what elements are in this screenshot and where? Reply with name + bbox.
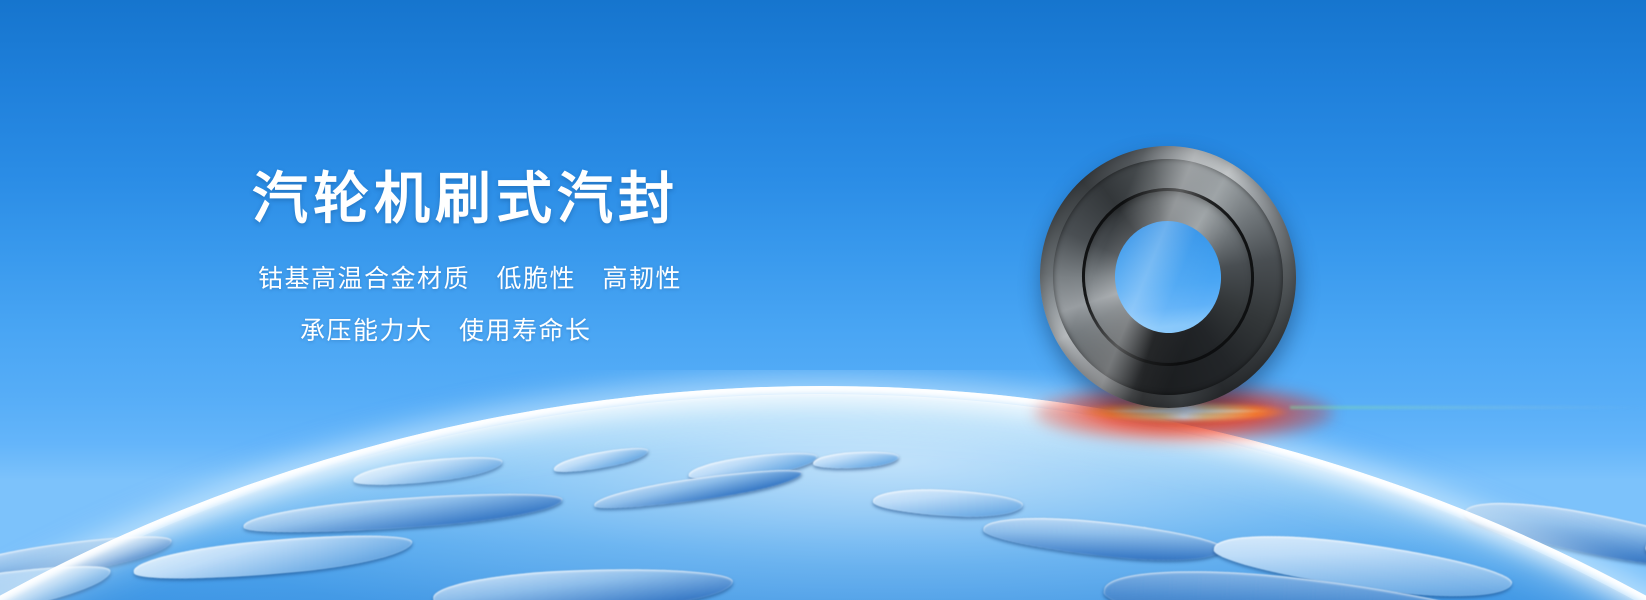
ring-inner-face (1041, 148, 1294, 407)
ring-bore-edge (1073, 179, 1263, 374)
banner-subtitle-1: 钴基高温合金材质 低脆性 高韧性 (258, 266, 892, 291)
banner-headline: 汽轮机刷式汽封 (252, 170, 892, 230)
ring-outer-rim (1027, 133, 1309, 420)
ring-hole (1109, 216, 1226, 338)
earth-horizon (0, 370, 1646, 600)
banner-subtitle-2: 承压能力大 使用寿命长 (300, 318, 892, 343)
atmosphere-glow (0, 386, 1646, 600)
banner-copy: 汽轮机刷式汽封 钴基高温合金材质 低脆性 高韧性 承压能力大 使用寿命长 (252, 170, 892, 343)
lens-flare-line (1290, 406, 1646, 409)
product-hero-banner: 汽轮机刷式汽封 钴基高温合金材质 低脆性 高韧性 承压能力大 使用寿命长 (0, 0, 1646, 600)
brush-seal-ring-image (1040, 146, 1296, 408)
